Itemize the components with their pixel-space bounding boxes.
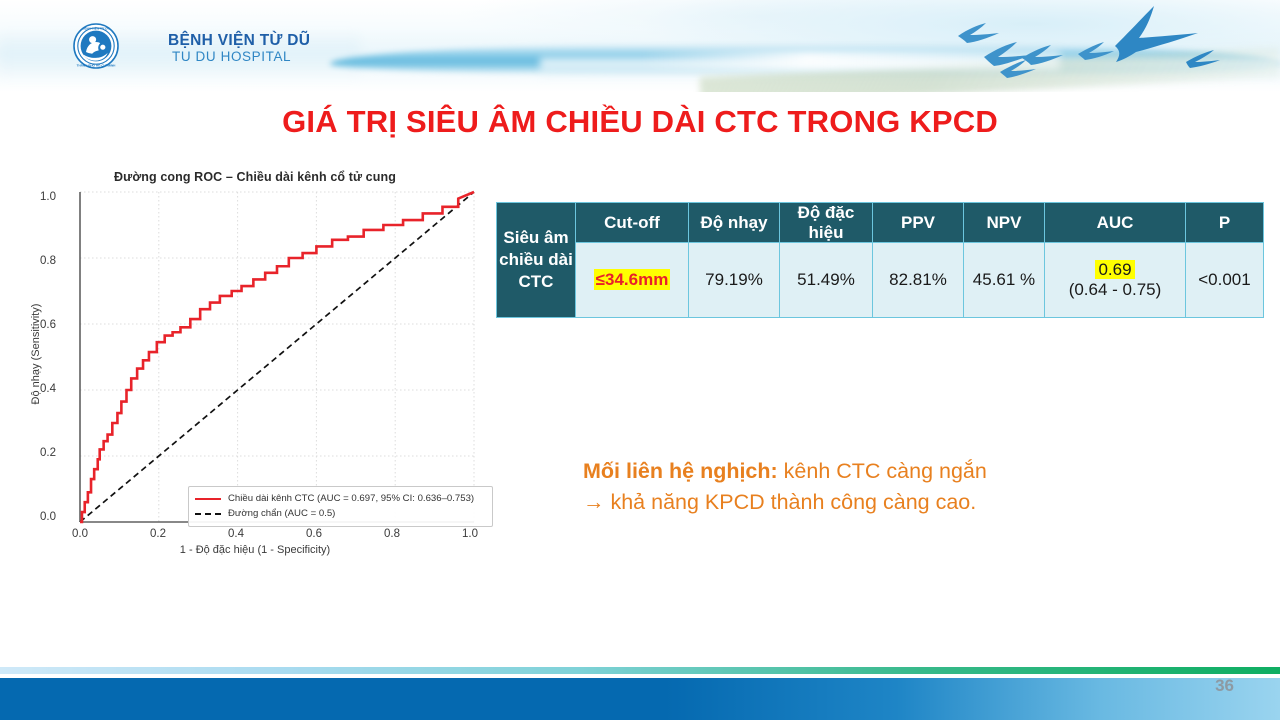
legend-solid-line-icon bbox=[195, 494, 221, 504]
cutoff-value-highlight: ≤34.6mm bbox=[594, 269, 671, 290]
table-col-auc: AUC bbox=[1045, 203, 1186, 243]
conclusion-line-2: → khả năng KPCD thành công càng cao. bbox=[583, 487, 1203, 518]
auc-value-highlight: 0.69 bbox=[1095, 260, 1134, 279]
table-col-ppv: PPV bbox=[873, 203, 964, 243]
table-col-sensitivity: Độ nhạy bbox=[689, 203, 780, 243]
legend-label: Đường chẩn (AUC = 0.5) bbox=[228, 508, 335, 519]
cell-ppv: 82.81% bbox=[873, 243, 964, 318]
table-col-p: P bbox=[1186, 203, 1264, 243]
slide-header-banner: BỆNH VIỆN TỪ DŨ THÀNH PHỐ HỒ CHÍ MINH BỆ… bbox=[0, 0, 1280, 92]
svg-text:BỆNH VIỆN TỪ DŨ: BỆNH VIỆN TỪ DŨ bbox=[82, 25, 110, 30]
tu-du-hospital-seal-icon: BỆNH VIỆN TỪ DŨ THÀNH PHỐ HỒ CHÍ MINH bbox=[73, 23, 119, 69]
legend-dashed-line-icon bbox=[195, 509, 221, 519]
chart-legend: Chiều dài kênh CTC (AUC = 0.697, 95% CI:… bbox=[188, 486, 493, 527]
cell-sensitivity: 79.19% bbox=[689, 243, 780, 318]
table-side-header: Siêu âm chiều dài CTC bbox=[497, 203, 576, 318]
roc-chart: Đường cong ROC – Chiều dài kênh cổ tử cu… bbox=[16, 162, 494, 570]
footer-accent-bar bbox=[0, 667, 1280, 674]
cell-p: <0.001 bbox=[1186, 243, 1264, 318]
hospital-name-en: TU DU HOSPITAL bbox=[168, 49, 310, 64]
chart-gridlines bbox=[80, 192, 474, 522]
legend-item: Chiều dài kênh CTC (AUC = 0.697, 95% CI:… bbox=[195, 491, 486, 506]
table-col-cutoff: Cut-off bbox=[576, 203, 689, 243]
conclusion-rest: kênh CTC càng ngắn bbox=[778, 459, 987, 483]
conclusion-line-1: Mối liên hệ nghịch: kênh CTC càng ngắn bbox=[583, 456, 1203, 487]
cell-auc: 0.69 (0.64 - 0.75) bbox=[1045, 243, 1186, 318]
hospital-name-block: BỆNH VIỆN TỪ DŨ TU DU HOSPITAL bbox=[168, 32, 310, 64]
page-number: 36 bbox=[1215, 676, 1234, 696]
table-col-npv: NPV bbox=[964, 203, 1045, 243]
footer-bar bbox=[0, 678, 1280, 720]
table-col-specificity: Độ đặc hiệu bbox=[780, 203, 873, 243]
cell-cutoff: ≤34.6mm bbox=[576, 243, 689, 318]
auc-ci-value: (0.64 - 0.75) bbox=[1069, 280, 1162, 299]
hospital-name-vi: BỆNH VIỆN TỪ DŨ bbox=[168, 32, 310, 49]
flying-birds-icon bbox=[940, 2, 1270, 92]
table-row: ≤34.6mm 79.19% 51.49% 82.81% 45.61 % 0.6… bbox=[497, 243, 1264, 318]
diagnostic-metrics-table: Siêu âm chiều dài CTC Cut-off Độ nhạy Độ… bbox=[496, 202, 1264, 318]
conclusion-lead: Mối liên hệ nghịch: bbox=[583, 459, 778, 483]
slide-title: GIÁ TRỊ SIÊU ÂM CHIỀU DÀI CTC TRONG KPCD bbox=[0, 104, 1280, 140]
table-header-row: Siêu âm chiều dài CTC Cut-off Độ nhạy Độ… bbox=[497, 203, 1264, 243]
legend-item: Đường chẩn (AUC = 0.5) bbox=[195, 506, 486, 521]
legend-label: Chiều dài kênh CTC (AUC = 0.697, 95% CI:… bbox=[228, 493, 474, 504]
svg-text:THÀNH PHỐ HỒ CHÍ MINH: THÀNH PHỐ HỒ CHÍ MINH bbox=[77, 62, 117, 67]
cell-specificity: 51.49% bbox=[780, 243, 873, 318]
conclusion-text: Mối liên hệ nghịch: kênh CTC càng ngắn →… bbox=[583, 456, 1203, 518]
cell-npv: 45.61 % bbox=[964, 243, 1045, 318]
